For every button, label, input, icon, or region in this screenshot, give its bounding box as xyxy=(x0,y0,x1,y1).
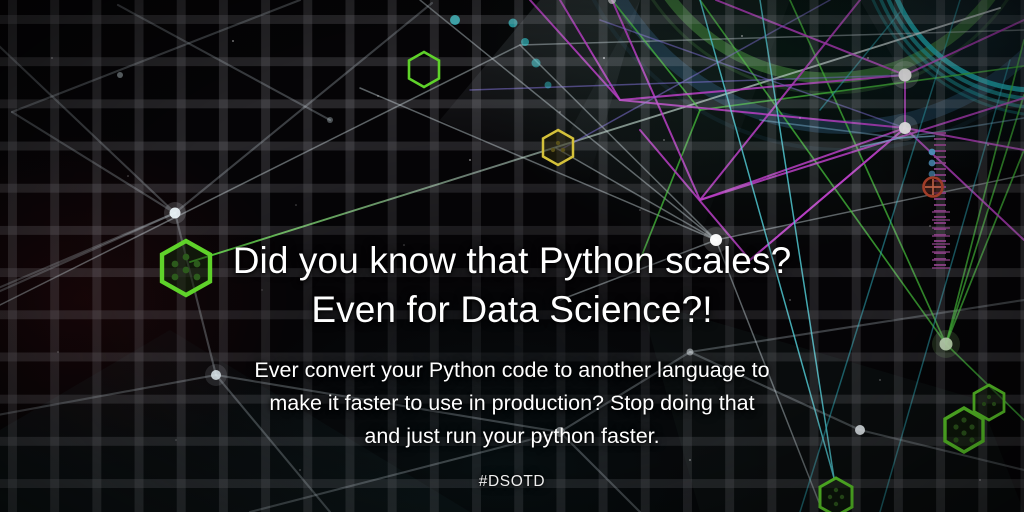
subtitle-line-2: make it faster to use in production? Sto… xyxy=(0,387,1024,420)
subtitle-line-1: Ever convert your Python code to another… xyxy=(0,354,1024,387)
headline-line-1: Did you know that Python scales? xyxy=(0,236,1024,285)
banner-text-block: Did you know that Python scales? Even fo… xyxy=(0,236,1024,491)
headline-line-2: Even for Data Science?! xyxy=(0,285,1024,334)
banner-canvas: Did you know that Python scales? Even fo… xyxy=(0,0,1024,512)
headline: Did you know that Python scales? Even fo… xyxy=(0,236,1024,334)
hashtag: #DSOTD xyxy=(0,473,1024,491)
subtitle-line-3: and just run your python faster. xyxy=(0,420,1024,453)
subtitle: Ever convert your Python code to another… xyxy=(0,354,1024,452)
